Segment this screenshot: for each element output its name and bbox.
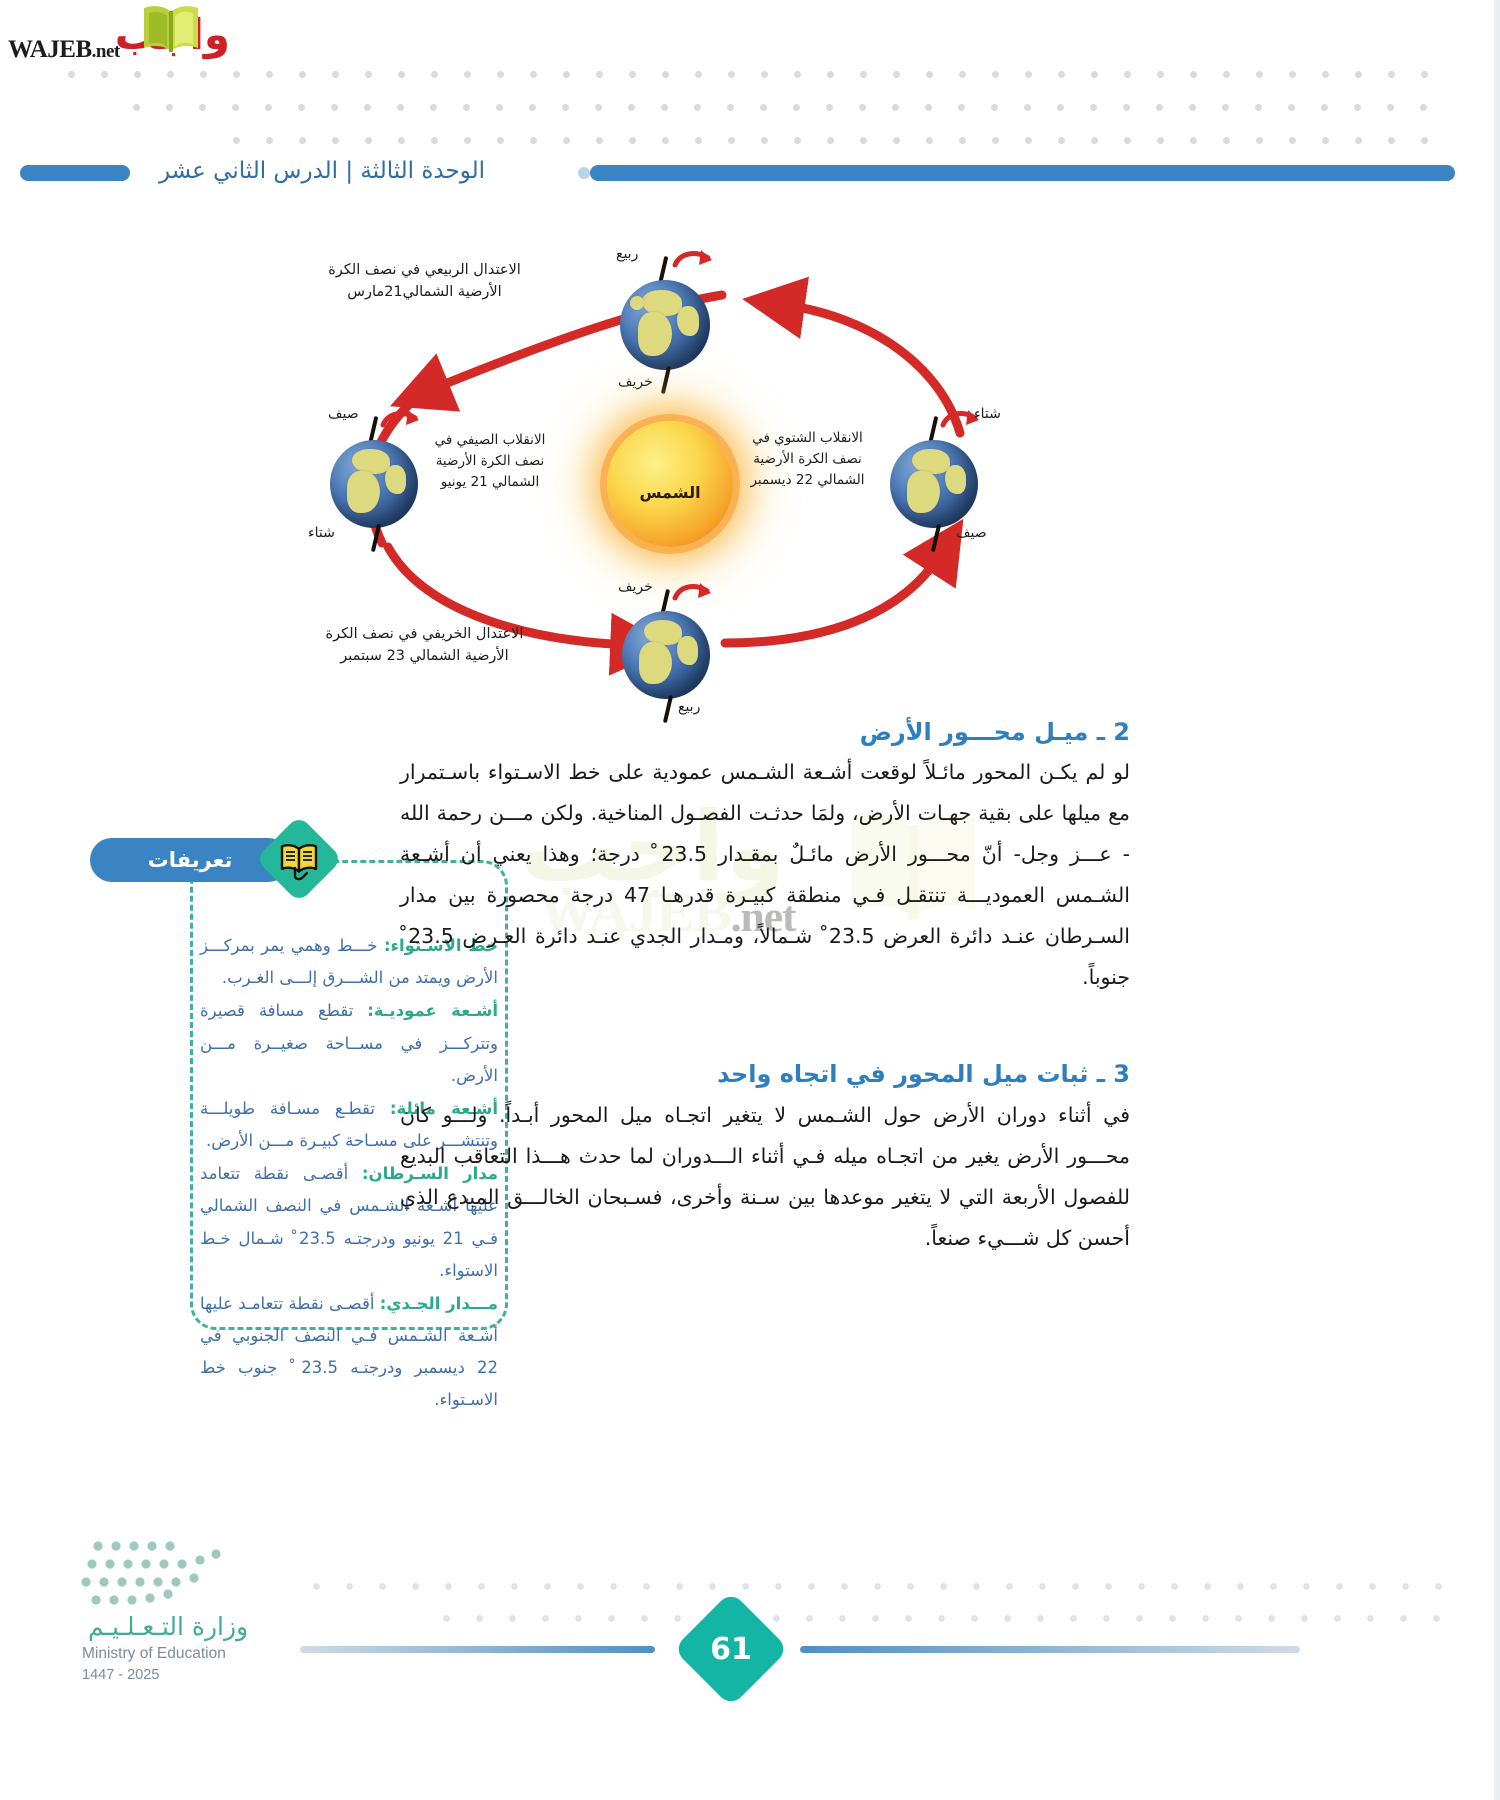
ministry-name-arabic: وزارة التـعـلـيـم [88, 1612, 248, 1641]
footer-rule-right [800, 1646, 1300, 1653]
section-heading-axis-tilt: 2 ـ ميـل محـــور الأرض [570, 718, 1130, 746]
dot-pattern-footer [430, 1602, 1450, 1634]
dot-pattern-header [220, 124, 1445, 158]
header-accent-bar-right [590, 165, 1455, 181]
globe-right-north-season: شتاء [974, 406, 1001, 422]
open-book-icon [140, 2, 202, 54]
globe-right-south-season: صيف [956, 525, 987, 541]
sun: الشمس [607, 421, 733, 547]
rotation-arrow-icon [380, 408, 422, 434]
dot-pattern-header [55, 58, 1445, 92]
watermark-latin-text: WAJEB.net [8, 36, 120, 64]
definition-term: أشـعة عموديـة: [367, 1001, 498, 1020]
breadcrumb: الوحدة الثالثة | الدرس الثاني عشر [65, 158, 485, 184]
definition-item: أشـعة عموديـة: تقطع مسافة قصيرة وتتركـــ… [200, 995, 498, 1092]
globe-left-north-season: صيف [328, 406, 359, 422]
label-winter-solstice: الانقلاب الشتوي في نصف الكرة الأرضية الش… [745, 428, 870, 491]
definitions-tab-label: تعريفات [148, 848, 233, 872]
globe-left-south-season: شتاء [308, 525, 335, 541]
book-hand-icon [277, 838, 321, 882]
label-summer-solstice: الانقلاب الصيفي في نصف الكرة الأرضية الش… [430, 430, 550, 493]
dot-pattern-footer [300, 1570, 1450, 1602]
paragraph-axis-direction: في أثناء دوران الأرض حول الشـمس لا يتغير… [400, 1095, 1130, 1259]
textbook-page: واجب WAJEB.net الوحدة الثالثة | الدرس ال… [0, 0, 1500, 1800]
watermark-logo: واجب WAJEB.net [0, 0, 230, 70]
globe-top-north-season: ربيع [616, 246, 638, 262]
paragraph-axis-tilt: لو لم يكـن المحور مائـلاً لوقعت أشـعة ال… [400, 752, 1130, 998]
label-autumn-equinox: الاعتدال الخريفي في نصف الكرة الأرضية ال… [317, 623, 532, 668]
globe-bottom-south-season: ربيع [678, 699, 700, 715]
dot-pattern-header [120, 91, 1445, 125]
definition-term: مـــدار الجـدي: [380, 1294, 498, 1313]
page-edge [1494, 0, 1500, 1800]
ministry-name-english: Ministry of Education [82, 1645, 226, 1663]
label-spring-equinox: الاعتدال الربيعي في نصف الكرة الأرضية ال… [317, 259, 532, 304]
rotation-arrow-icon [672, 581, 714, 607]
section-heading-axis-direction: 3 ـ ثبات ميل المحور في اتجاه واحد [570, 1060, 1130, 1088]
ministry-year: 2025 - 1447 [82, 1667, 159, 1683]
globe-top-south-season: خريف [618, 374, 653, 390]
page-number: 61 [690, 1608, 772, 1690]
footer-rule-left [300, 1646, 655, 1653]
sun-label: الشمس [639, 483, 700, 502]
globe-bottom-north-season: خريف [618, 579, 653, 595]
earth-seasons-diagram: ربيع خريف الاعتدال الربيعي في نصف الكرة … [330, 225, 1160, 710]
rotation-arrow-icon [672, 248, 716, 274]
definition-item: مـــدار الجـدي: أقصـى نقطة تتعامـد عليها… [200, 1288, 498, 1417]
